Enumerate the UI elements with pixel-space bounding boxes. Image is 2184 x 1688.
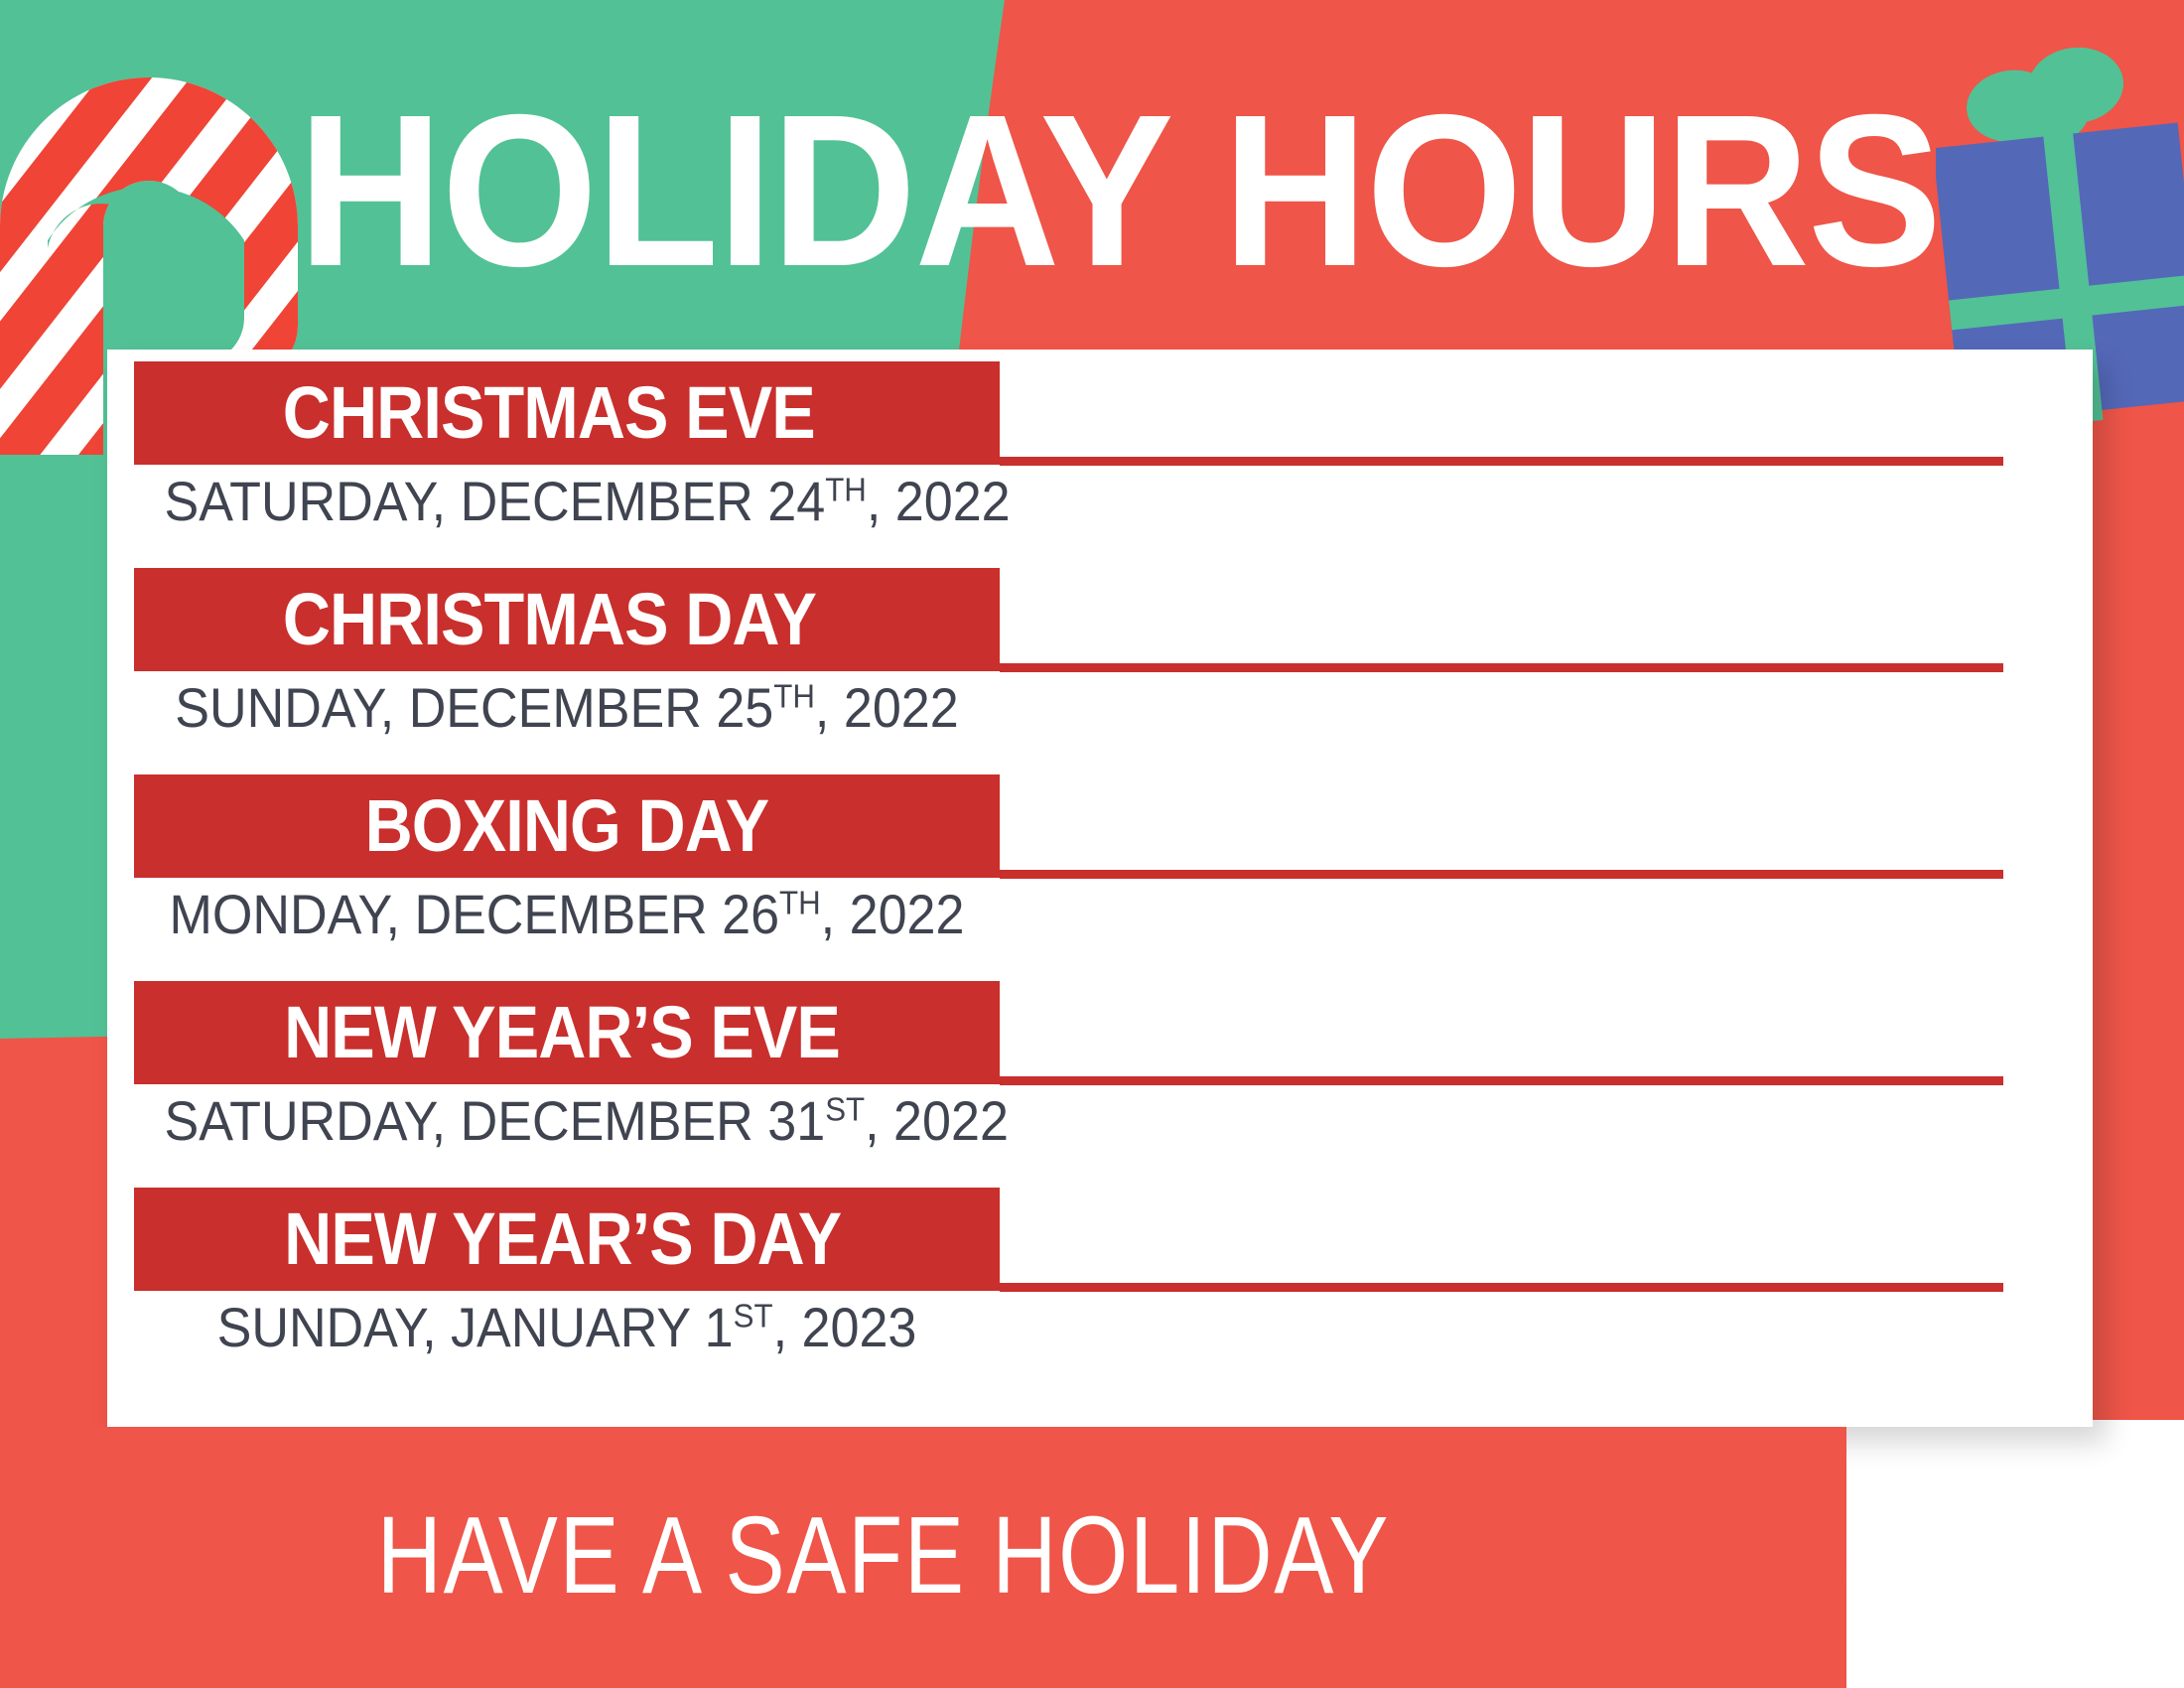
hours-write-in-line[interactable] bbox=[1000, 1283, 2003, 1292]
holiday-name: CHRISTMAS DAY bbox=[283, 583, 816, 656]
holiday-row: NEW YEAR’S DAY SUNDAY, JANUARY 1ST, 2023 bbox=[107, 1188, 2093, 1394]
hours-write-in-line[interactable] bbox=[1000, 870, 2003, 879]
date-ordinal: TH bbox=[779, 885, 821, 921]
date-weekday: SUNDAY, bbox=[217, 1296, 437, 1358]
holiday-banner: CHRISTMAS DAY bbox=[134, 568, 1000, 671]
holiday-hours-poster: HOLIDAY HOURS CHRISTMAS EVE SATURDAY, DE… bbox=[0, 0, 2184, 1688]
date-month: JANUARY bbox=[451, 1296, 690, 1358]
holiday-date: SUNDAY, DECEMBER 25TH, 2022 bbox=[165, 675, 970, 741]
holiday-name: NEW YEAR’S EVE bbox=[284, 996, 840, 1069]
holiday-date: MONDAY, DECEMBER 26TH, 2022 bbox=[165, 882, 970, 947]
holiday-date: SUNDAY, JANUARY 1ST, 2023 bbox=[165, 1295, 970, 1360]
date-year: 2023 bbox=[802, 1296, 917, 1358]
holiday-name: BOXING DAY bbox=[365, 789, 769, 863]
date-year: 2022 bbox=[893, 1089, 1009, 1152]
date-day: 31 bbox=[767, 1089, 825, 1152]
date-year: 2022 bbox=[844, 676, 959, 739]
date-weekday: MONDAY, bbox=[170, 883, 400, 945]
date-weekday: SATURDAY, bbox=[165, 470, 447, 532]
holiday-banner: BOXING DAY bbox=[134, 774, 1000, 878]
date-weekday: SATURDAY, bbox=[165, 1089, 447, 1152]
holiday-name: NEW YEAR’S DAY bbox=[284, 1202, 841, 1276]
holiday-row: BOXING DAY MONDAY, DECEMBER 26TH, 2022 bbox=[107, 774, 2093, 981]
date-weekday: SUNDAY, bbox=[175, 676, 394, 739]
holiday-row: CHRISTMAS EVE SATURDAY, DECEMBER 24TH, 2… bbox=[107, 361, 2093, 568]
holiday-banner: NEW YEAR’S DAY bbox=[134, 1188, 1000, 1291]
date-month: DECEMBER bbox=[461, 470, 753, 532]
hours-write-in-line[interactable] bbox=[1000, 663, 2003, 672]
page-title: HOLIDAY HOURS bbox=[298, 77, 1867, 306]
date-day: 26 bbox=[722, 883, 779, 945]
hours-write-in-line[interactable] bbox=[1000, 1076, 2003, 1085]
hours-write-in-line[interactable] bbox=[1000, 457, 2003, 466]
holiday-banner: NEW YEAR’S EVE bbox=[134, 981, 1000, 1084]
holiday-date: SATURDAY, DECEMBER 31ST, 2022 bbox=[165, 1088, 970, 1154]
date-month: DECEMBER bbox=[414, 883, 707, 945]
date-year: 2022 bbox=[895, 470, 1011, 532]
holiday-banner: CHRISTMAS EVE bbox=[134, 361, 1000, 465]
date-ordinal: TH bbox=[773, 678, 815, 715]
date-year: 2022 bbox=[850, 883, 965, 945]
date-day: 1 bbox=[705, 1296, 734, 1358]
date-ordinal: ST bbox=[825, 1091, 865, 1128]
date-day: 24 bbox=[767, 470, 825, 532]
holiday-date: SATURDAY, DECEMBER 24TH, 2022 bbox=[165, 469, 970, 534]
holiday-name: CHRISTMAS EVE bbox=[283, 376, 815, 450]
holiday-row: CHRISTMAS DAY SUNDAY, DECEMBER 25TH, 202… bbox=[107, 568, 2093, 774]
footer-message: HAVE A SAFE HOLIDAY bbox=[159, 1497, 1608, 1615]
date-month: DECEMBER bbox=[461, 1089, 753, 1152]
holiday-row: NEW YEAR’S EVE SATURDAY, DECEMBER 31ST, … bbox=[107, 981, 2093, 1188]
hours-card: CHRISTMAS EVE SATURDAY, DECEMBER 24TH, 2… bbox=[107, 350, 2093, 1427]
date-month: DECEMBER bbox=[409, 676, 702, 739]
date-ordinal: TH bbox=[825, 472, 867, 508]
date-ordinal: ST bbox=[734, 1298, 773, 1335]
date-day: 25 bbox=[716, 676, 773, 739]
